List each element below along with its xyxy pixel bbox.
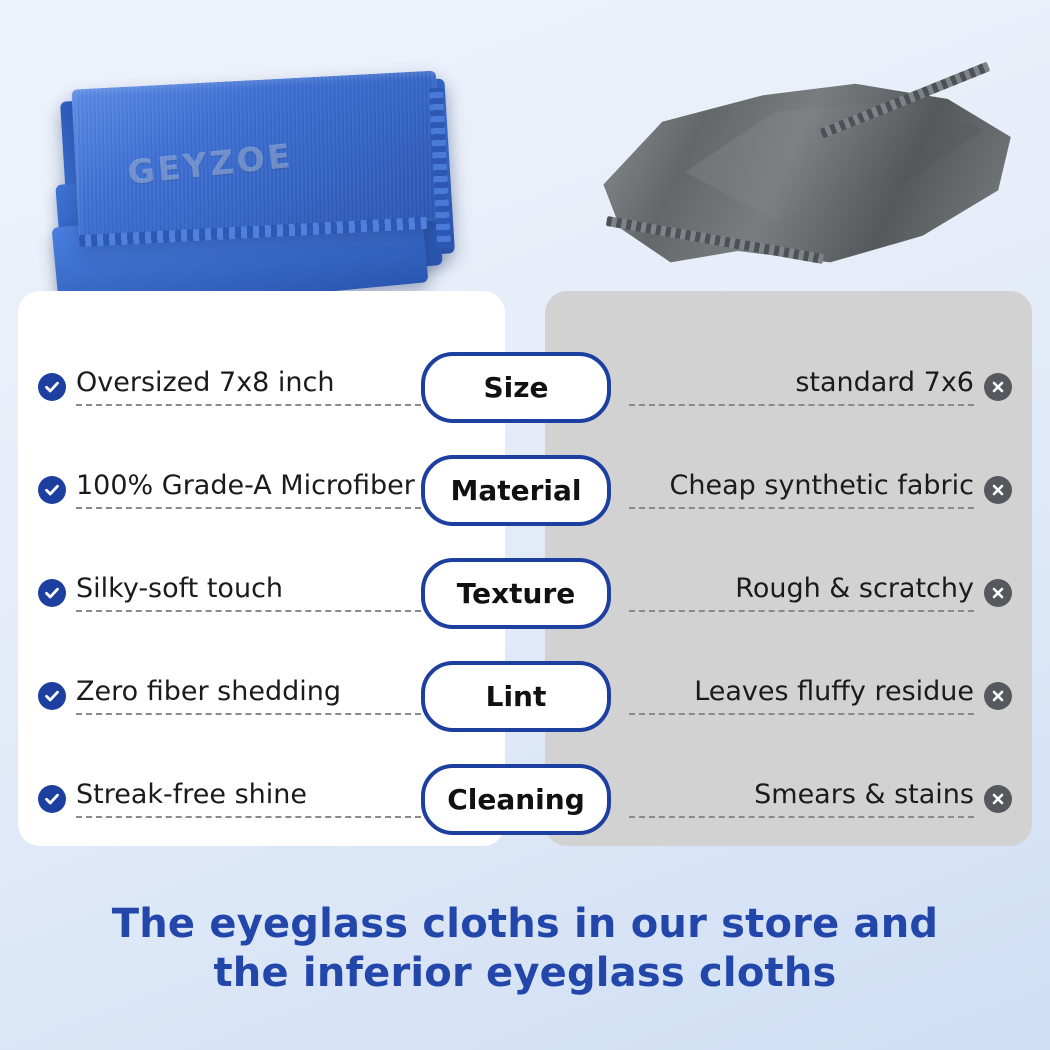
bad-feature-text: Rough & scratchy (629, 574, 974, 613)
category-pill-size: Size (421, 352, 611, 423)
check-circle-icon (38, 785, 66, 813)
check-circle-icon (38, 373, 66, 401)
comparison-row: Oversized 7x8 inch Size standard 7x6 (0, 351, 1050, 423)
check-circle-icon (38, 579, 66, 607)
comparison-row: Zero fiber shedding Lint Leaves fluffy r… (0, 660, 1050, 732)
comparison-rows: Oversized 7x8 inch Size standard 7x6 100… (0, 331, 1050, 871)
blue-microfiber-cloth-photo: GEYZOE (55, 50, 455, 330)
bad-side: Rough & scratchy (629, 574, 1012, 613)
good-side: 100% Grade-A Microfiber (38, 471, 421, 510)
category-pill-material: Material (421, 455, 611, 526)
check-circle-icon (38, 682, 66, 710)
good-feature-text: Silky-soft touch (76, 574, 421, 613)
category-pill-texture: Texture (421, 558, 611, 629)
category-pill-cleaning: Cleaning (421, 764, 611, 835)
check-circle-icon (38, 476, 66, 504)
good-feature-text: Streak-free shine (76, 780, 421, 819)
bad-side: Smears & stains (629, 780, 1012, 819)
good-feature-text: Oversized 7x8 inch (76, 368, 421, 407)
bad-feature-text: Leaves fluffy residue (629, 677, 974, 716)
brand-watermark: GEYZOE (126, 136, 295, 192)
category-pill-lint: Lint (421, 661, 611, 732)
comparison-row: Streak-free shine Cleaning Smears & stai… (0, 763, 1050, 835)
bad-feature-text: Cheap synthetic fabric (629, 471, 974, 510)
bad-feature-text: Smears & stains (629, 780, 974, 819)
bad-feature-text: standard 7x6 (629, 368, 974, 407)
good-feature-text: 100% Grade-A Microfiber (76, 471, 421, 510)
comparison-row: 100% Grade-A Microfiber Material Cheap s… (0, 454, 1050, 526)
good-side: Streak-free shine (38, 780, 421, 819)
caption-line-2: the inferior eyeglass cloths (0, 949, 1050, 998)
good-side: Oversized 7x8 inch (38, 368, 421, 407)
x-circle-icon (984, 682, 1012, 710)
x-circle-icon (984, 476, 1012, 504)
good-feature-text: Zero fiber shedding (76, 677, 421, 716)
good-side: Zero fiber shedding (38, 677, 421, 716)
comparison-row: Silky-soft touch Texture Rough & scratch… (0, 557, 1050, 629)
grey-cloth-photo (565, 60, 1035, 320)
bad-side: standard 7x6 (629, 368, 1012, 407)
good-side: Silky-soft touch (38, 574, 421, 613)
bad-side: Cheap synthetic fabric (629, 471, 1012, 510)
x-circle-icon (984, 373, 1012, 401)
caption-line-1: The eyeglass cloths in our store and (112, 901, 938, 947)
cloth-stack: GEYZOE (55, 50, 455, 330)
comparison-infographic: GEYZOE Oversized 7x8 inch Size standard … (0, 0, 1050, 1050)
cloth-layer-top: GEYZOE (71, 71, 443, 240)
caption: The eyeglass cloths in our store and the… (0, 900, 1050, 998)
x-circle-icon (984, 579, 1012, 607)
bad-side: Leaves fluffy residue (629, 677, 1012, 716)
x-circle-icon (984, 785, 1012, 813)
